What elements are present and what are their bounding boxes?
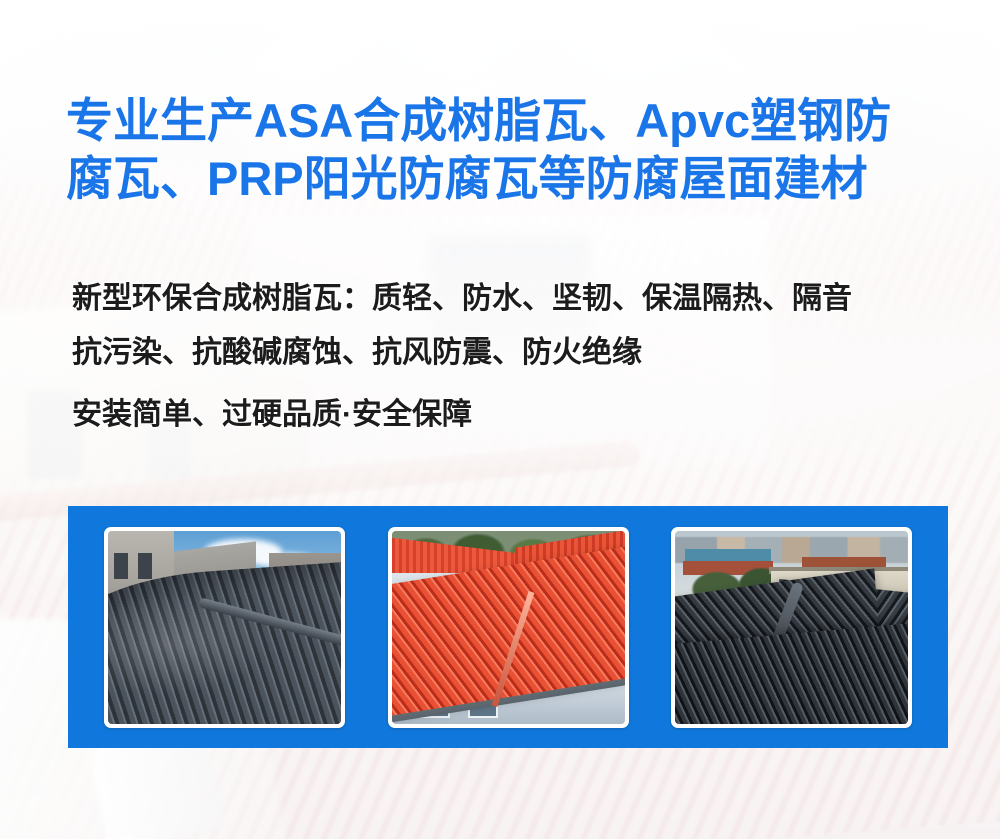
feature-copy-line-3: 安装简单、过硬品质·安全保障 xyxy=(72,388,972,442)
photo-grey-resin-tile-roof-courtyard xyxy=(108,531,341,724)
photo-frame-2[interactable] xyxy=(388,527,629,728)
feature-copy-line-1: 新型环保合成树脂瓦：质轻、防水、坚韧、保温隔热、隔音 xyxy=(72,272,972,326)
product-banner: 专业生产ASA合成树脂瓦、Apvc塑钢防 腐瓦、PRP阳光防腐瓦等防腐屋面建材 … xyxy=(0,0,1000,839)
headline-line-2: 腐瓦、PRP阳光防腐瓦等防腐屋面建材 xyxy=(66,150,946,208)
headline: 专业生产ASA合成树脂瓦、Apvc塑钢防 腐瓦、PRP阳光防腐瓦等防腐屋面建材 xyxy=(66,92,946,208)
photo-frame-1[interactable] xyxy=(104,527,345,728)
photo1-window-1 xyxy=(114,553,128,579)
photo-red-resin-tile-roof-villas xyxy=(392,531,625,724)
photo-gallery-panel xyxy=(68,506,948,748)
photo1-window-2 xyxy=(138,553,152,579)
feature-copy-line-2: 抗污染、抗酸碱腐蚀、抗风防震、防火绝缘 xyxy=(72,326,972,380)
headline-line-1: 专业生产ASA合成树脂瓦、Apvc塑钢防 xyxy=(66,92,946,150)
photo-frame-3[interactable] xyxy=(671,527,912,728)
photo3-blue-roof xyxy=(685,549,771,561)
photo-dark-resin-tile-pavilion-roof xyxy=(675,531,908,724)
feature-copy: 新型环保合成树脂瓦：质轻、防水、坚韧、保温隔热、隔音 抗污染、抗酸碱腐蚀、抗风防… xyxy=(72,272,972,442)
